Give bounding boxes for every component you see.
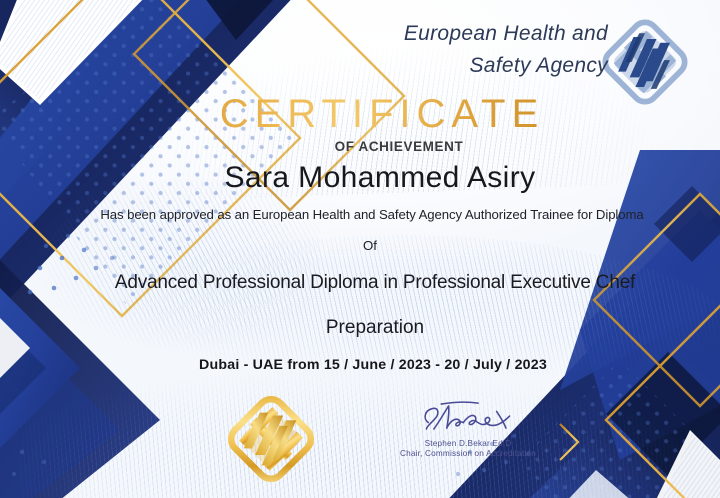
signature-block: Stephen D.Bekar Ed.D Chair, Commission o…: [368, 398, 568, 458]
gold-seal-icon: [224, 392, 318, 486]
signatory-role: Chair, Commission on Accreditation: [368, 449, 568, 458]
certificate-title: CERTIFICATE: [0, 92, 720, 137]
venue-and-dates: Dubai - UAE from 15 / June / 2023 - 20 /…: [0, 357, 720, 373]
handwritten-signature-icon: [408, 398, 528, 436]
program-title-line1: Advanced Professional Diploma in Profess…: [0, 272, 720, 294]
recipient-name: Sara Mohammed Asiry: [0, 161, 720, 195]
certificate-page: European Health and Safety Agency CERTIF…: [0, 0, 720, 498]
certificate-subtitle: OF ACHIEVEMENT: [0, 139, 720, 154]
organization-name: European Health and Safety Agency: [352, 18, 608, 82]
program-title-line2: Preparation: [0, 317, 720, 339]
approval-statement: Has been approved as an European Health …: [0, 207, 720, 222]
org-name-line2: Safety Agency: [352, 50, 608, 82]
signatory-name: Stephen D.Bekar Ed.D: [368, 439, 568, 448]
org-name-line1: European Health and: [404, 22, 608, 45]
of-word: Of: [0, 238, 720, 253]
